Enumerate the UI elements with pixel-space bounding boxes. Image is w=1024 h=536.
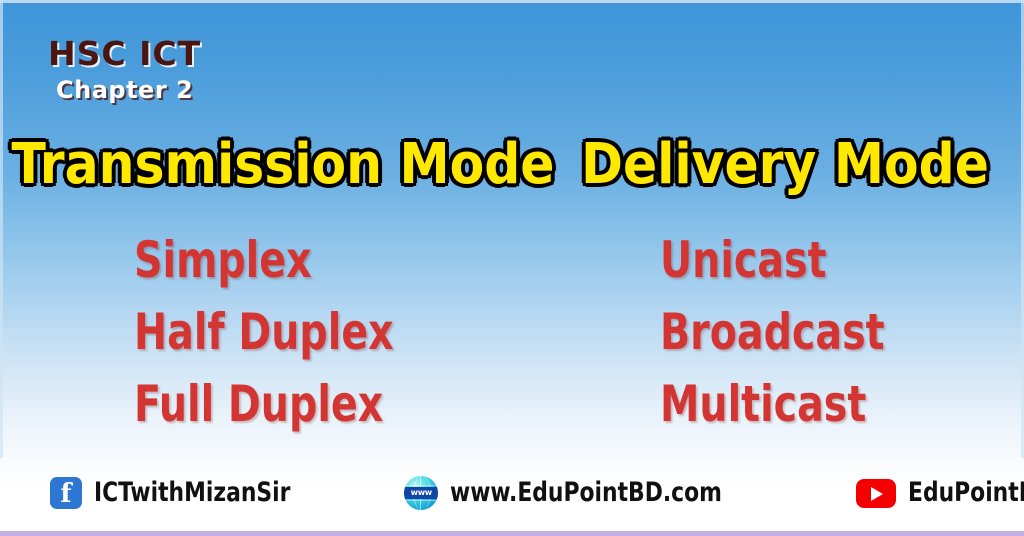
list-item: Half Duplex <box>134 296 514 368</box>
frame-border-top <box>0 0 1024 3</box>
column-heading-left: Transmission Mode <box>0 134 566 196</box>
list-item: Simplex <box>134 224 514 296</box>
website-badge[interactable]: www www.EduPointBD.com <box>404 476 752 510</box>
column-lists: Simplex Half Duplex Full Duplex Unicast … <box>0 224 1024 440</box>
youtube-icon <box>856 479 896 508</box>
infographic-banner: HSC ICT Chapter 2 Transmission Mode Deli… <box>0 0 1024 536</box>
youtube-badge[interactable]: EduPointBD <box>856 478 1024 508</box>
column-headings: Transmission Mode Delivery Mode <box>0 134 1024 196</box>
list-delivery-mode: Unicast Broadcast Multicast <box>566 224 1024 440</box>
course-title: HSC ICT <box>48 36 468 72</box>
facebook-badge[interactable]: f ICTwithMizanSir <box>50 477 312 509</box>
bottom-accent-strip <box>0 531 1024 536</box>
facebook-handle-label: ICTwithMizanSir <box>94 478 290 508</box>
list-transmission-mode: Simplex Half Duplex Full Duplex <box>0 224 566 440</box>
list-item: Unicast <box>660 224 980 296</box>
www-glyph-text: www <box>411 487 432 499</box>
list-item: Broadcast <box>660 296 980 368</box>
heading-transmission-mode: Transmission Mode <box>12 132 555 197</box>
column-heading-right: Delivery Mode <box>566 134 1024 196</box>
banner-eyebrow: HSC ICT Chapter 2 <box>48 36 468 104</box>
youtube-channel-label: EduPointBD <box>908 478 1024 508</box>
footer-badge-row: f ICTwithMizanSir www www.EduPointBD.com… <box>0 458 1024 528</box>
banner-footer: f ICTwithMizanSir www www.EduPointBD.com… <box>0 458 1024 536</box>
globe-www-icon: www <box>404 476 438 510</box>
facebook-icon: f <box>50 477 82 509</box>
heading-delivery-mode: Delivery Mode <box>581 132 989 197</box>
list-item: Full Duplex <box>134 368 514 440</box>
list-item: Multicast <box>660 368 980 440</box>
chapter-label: Chapter 2 <box>56 76 468 104</box>
website-url-label: www.EduPointBD.com <box>450 478 722 508</box>
